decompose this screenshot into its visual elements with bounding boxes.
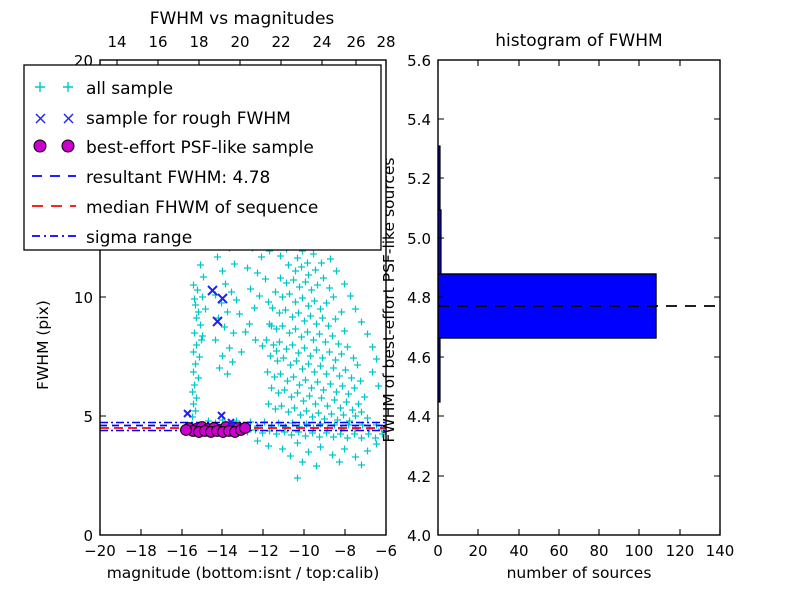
left-panel-top-tick-labels: 14 16 18 20 22 24 26 28 [107,33,395,51]
x-tick-label: 100 [625,542,654,560]
right-xaxis-label: number of sources [507,564,652,582]
y-tick-label: 5 [83,408,93,426]
figure-root: FWHM vs magnitudes 14 16 18 20 22 24 26 … [0,0,800,600]
legend-label: resultant FWHM: 4.78 [86,168,270,188]
top-tick-label: 18 [189,33,208,51]
right-yaxis-label: FWHM of best-effort PSF-like sources [380,157,398,442]
left-panel-legend: all sample sample for rough FWHM best-ef… [24,65,381,250]
y-tick-label: 0 [83,527,93,545]
y-tick-label: 4.0 [407,527,431,545]
legend-label: sample for rough FWHM [86,109,291,129]
y-tick-label: 4.6 [407,349,431,367]
left-yaxis-label: FWHM (pix) [34,300,52,390]
y-tick-label: 5.2 [407,170,431,188]
y-tick-label: 5.4 [407,111,431,129]
bottom-tick-label: −10 [288,542,320,560]
bottom-tick-label: −18 [125,542,157,560]
x-tick-label: 140 [706,542,735,560]
left-panel-title: FWHM vs magnitudes [150,9,335,29]
right-y-tick-labels: 4.0 4.2 4.4 4.6 4.8 5.0 5.2 5.4 5.6 [407,52,431,545]
top-tick-label: 26 [346,33,365,51]
series-psf-like-sample [181,422,251,438]
legend-label: sigma range [86,228,192,248]
right-x-tick-labels: 0 20 40 60 80 100 120 140 [433,542,734,560]
matplotlib-figure: FWHM vs magnitudes 14 16 18 20 22 24 26 … [0,0,800,600]
left-xaxis-label: magnitude (bottom:isnt / top:calib) [107,564,380,582]
y-tick-label: 4.2 [407,468,431,486]
y-tick-label: 5.0 [407,230,431,248]
top-tick-label: 28 [376,33,395,51]
x-tick-label: 20 [468,542,487,560]
x-tick-label: 60 [549,542,568,560]
top-tick-label: 24 [312,33,331,51]
x-tick-label: 0 [433,542,443,560]
legend-label: best-effort PSF-like sample [86,138,314,158]
x-tick-label: 80 [589,542,608,560]
y-tick-label: 4.8 [407,289,431,307]
x-tick-label: 120 [666,542,695,560]
histogram-bar [438,274,656,338]
bottom-tick-label: −16 [166,542,198,560]
bottom-tick-label: −14 [206,542,238,560]
y-tick-label: 10 [74,289,93,307]
legend-label: all sample [86,79,173,99]
top-tick-label: 22 [271,33,290,51]
y-tick-label: 5.6 [407,52,431,70]
top-tick-label: 16 [148,33,167,51]
left-bottom-tick-labels: −20 −18 −16 −14 −12 −10 −8 −6 [84,542,397,560]
top-tick-label: 20 [230,33,249,51]
right-panel: histogram of FWHM [380,31,734,582]
right-panel-title: histogram of FWHM [495,31,662,51]
bottom-tick-label: −6 [375,542,397,560]
left-panel: FWHM vs magnitudes 14 16 18 20 22 24 26 … [24,9,397,582]
legend-label: median FHWM of sequence [86,198,318,218]
y-tick-label: 4.4 [407,408,431,426]
top-tick-label: 14 [107,33,126,51]
x-tick-label: 40 [509,542,528,560]
bottom-tick-label: −12 [247,542,279,560]
bottom-tick-label: −8 [334,542,356,560]
